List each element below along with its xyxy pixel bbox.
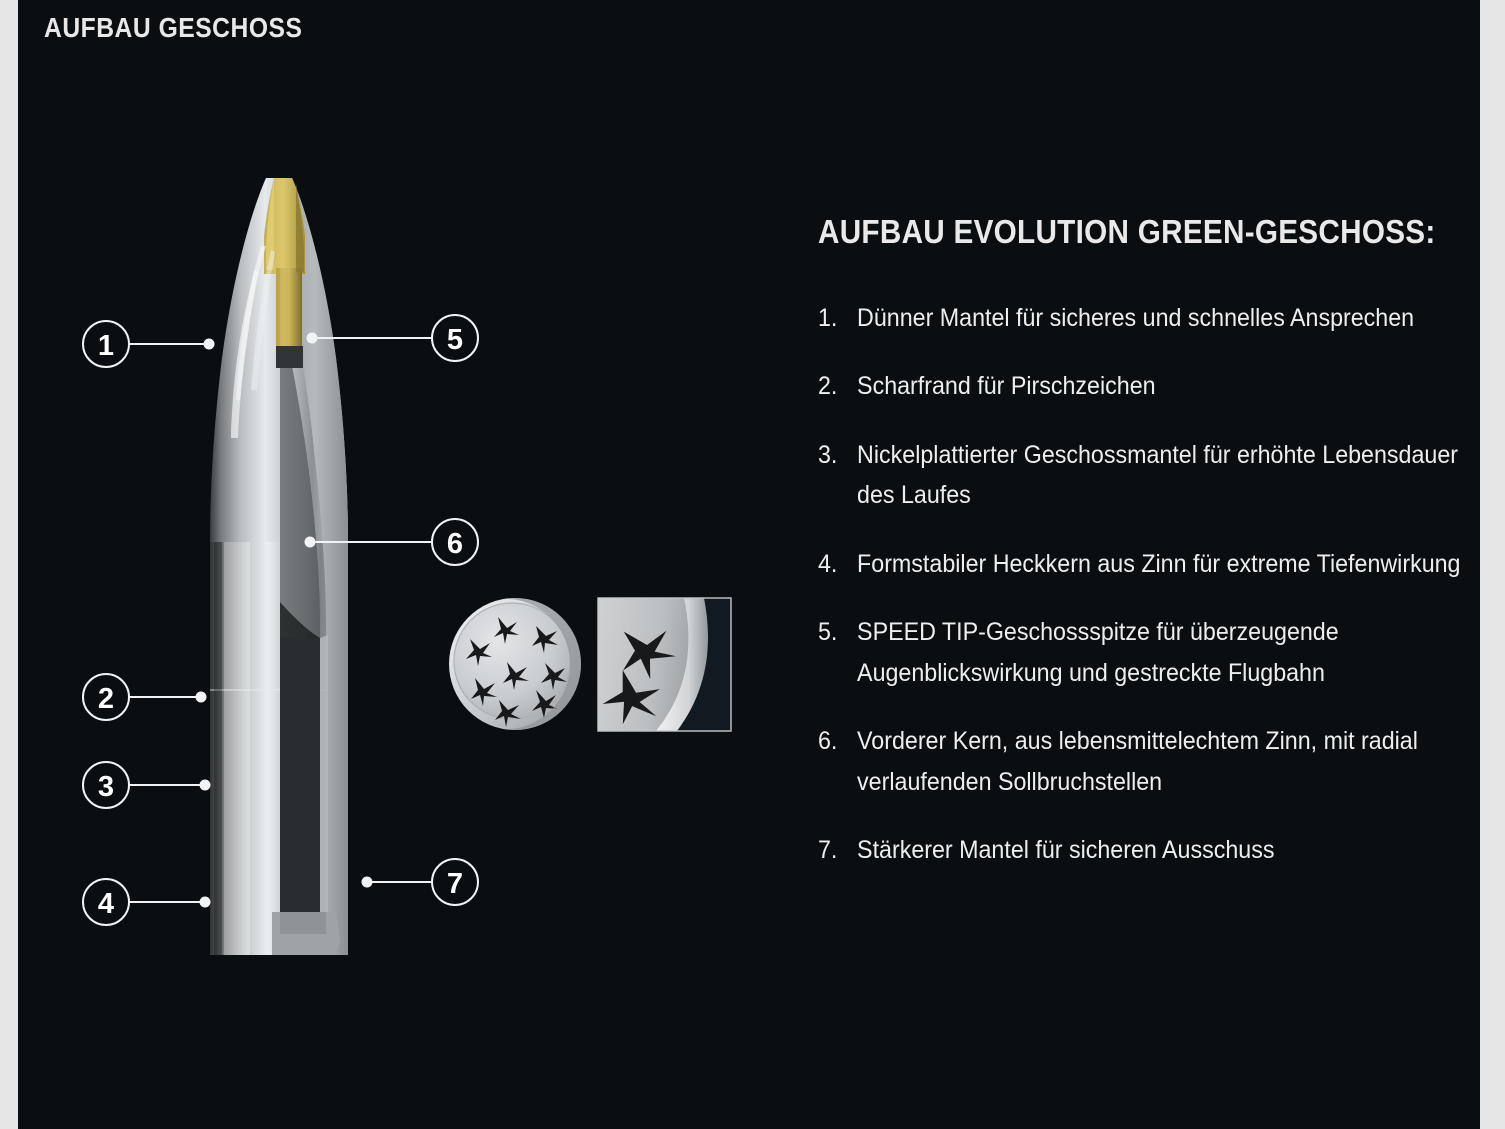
page-root: AUFBAU GESCHOSS	[0, 0, 1505, 1129]
panel-heading: AUFBAU EVOLUTION GREEN-GESCHOSS:	[800, 210, 1473, 254]
bullet-diagram: 1 2 3	[18, 150, 778, 1050]
rear-cavity-wide	[280, 638, 320, 912]
feature-number: 1.	[818, 298, 857, 339]
feature-item: 7. Stärkerer Mantel für sicheren Ausschu…	[818, 830, 1477, 871]
feature-text: Nickelplattierter Geschossmantel für erh…	[857, 435, 1477, 516]
feature-text: SPEED TIP-Geschossspitze für überzeugend…	[857, 612, 1477, 693]
callout-3[interactable]: 3	[83, 762, 211, 808]
callout-4[interactable]: 4	[83, 879, 211, 925]
feature-item: 5. SPEED TIP-Geschossspitze für überzeug…	[818, 612, 1477, 693]
feature-number: 3.	[818, 435, 857, 476]
base-detail-inset	[598, 598, 731, 733]
feature-item: 6. Vorderer Kern, aus lebensmittelechtem…	[818, 721, 1477, 802]
feature-text: Dünner Mantel für sicheres und schnelles…	[857, 298, 1477, 339]
page-title: AUFBAU GESCHOSS	[44, 12, 302, 44]
feature-item: 3. Nickelplattierter Geschossmantel für …	[818, 435, 1477, 516]
feature-number: 5.	[818, 612, 857, 653]
tip-seat	[276, 346, 303, 368]
callout-label-7: 7	[447, 868, 463, 900]
feature-number: 6.	[818, 721, 857, 762]
feature-text: Stärkerer Mantel für sicheren Ausschuss	[857, 830, 1477, 871]
callout-label-6: 6	[447, 528, 463, 560]
feature-number: 7.	[818, 830, 857, 871]
feature-panel: AUFBAU EVOLUTION GREEN-GESCHOSS: 1. Dünn…	[800, 210, 1480, 899]
speed-tip-stem	[276, 268, 302, 353]
feature-item: 1. Dünner Mantel für sicheres und schnel…	[818, 298, 1477, 339]
callout-label-5: 5	[447, 324, 463, 356]
callout-7[interactable]: 7	[362, 859, 479, 905]
bullet-cutaway	[210, 178, 348, 955]
bullet-base-disc	[449, 598, 581, 730]
callout-label-1: 1	[98, 330, 114, 362]
callout-label-3: 3	[98, 771, 114, 803]
feature-list: 1. Dünner Mantel für sicheres und schnel…	[800, 298, 1480, 871]
feature-text: Vorderer Kern, aus lebensmittelechtem Zi…	[857, 721, 1477, 802]
feature-text: Scharfrand für Pirschzeichen	[857, 366, 1477, 407]
feature-item: 2. Scharfrand für Pirschzeichen	[818, 366, 1477, 407]
callout-2[interactable]: 2	[83, 674, 207, 720]
tip-facet-mid	[280, 178, 286, 355]
feature-item: 4. Formstabiler Heckkern aus Zinn für ex…	[818, 544, 1477, 585]
feature-number: 2.	[818, 366, 857, 407]
dark-stage: AUFBAU GESCHOSS	[18, 0, 1480, 1129]
callout-label-2: 2	[98, 683, 114, 715]
callout-1[interactable]: 1	[83, 321, 215, 367]
callout-label-4: 4	[98, 888, 114, 920]
feature-number: 4.	[818, 544, 857, 585]
feature-text: Formstabiler Heckkern aus Zinn für extre…	[857, 544, 1477, 585]
